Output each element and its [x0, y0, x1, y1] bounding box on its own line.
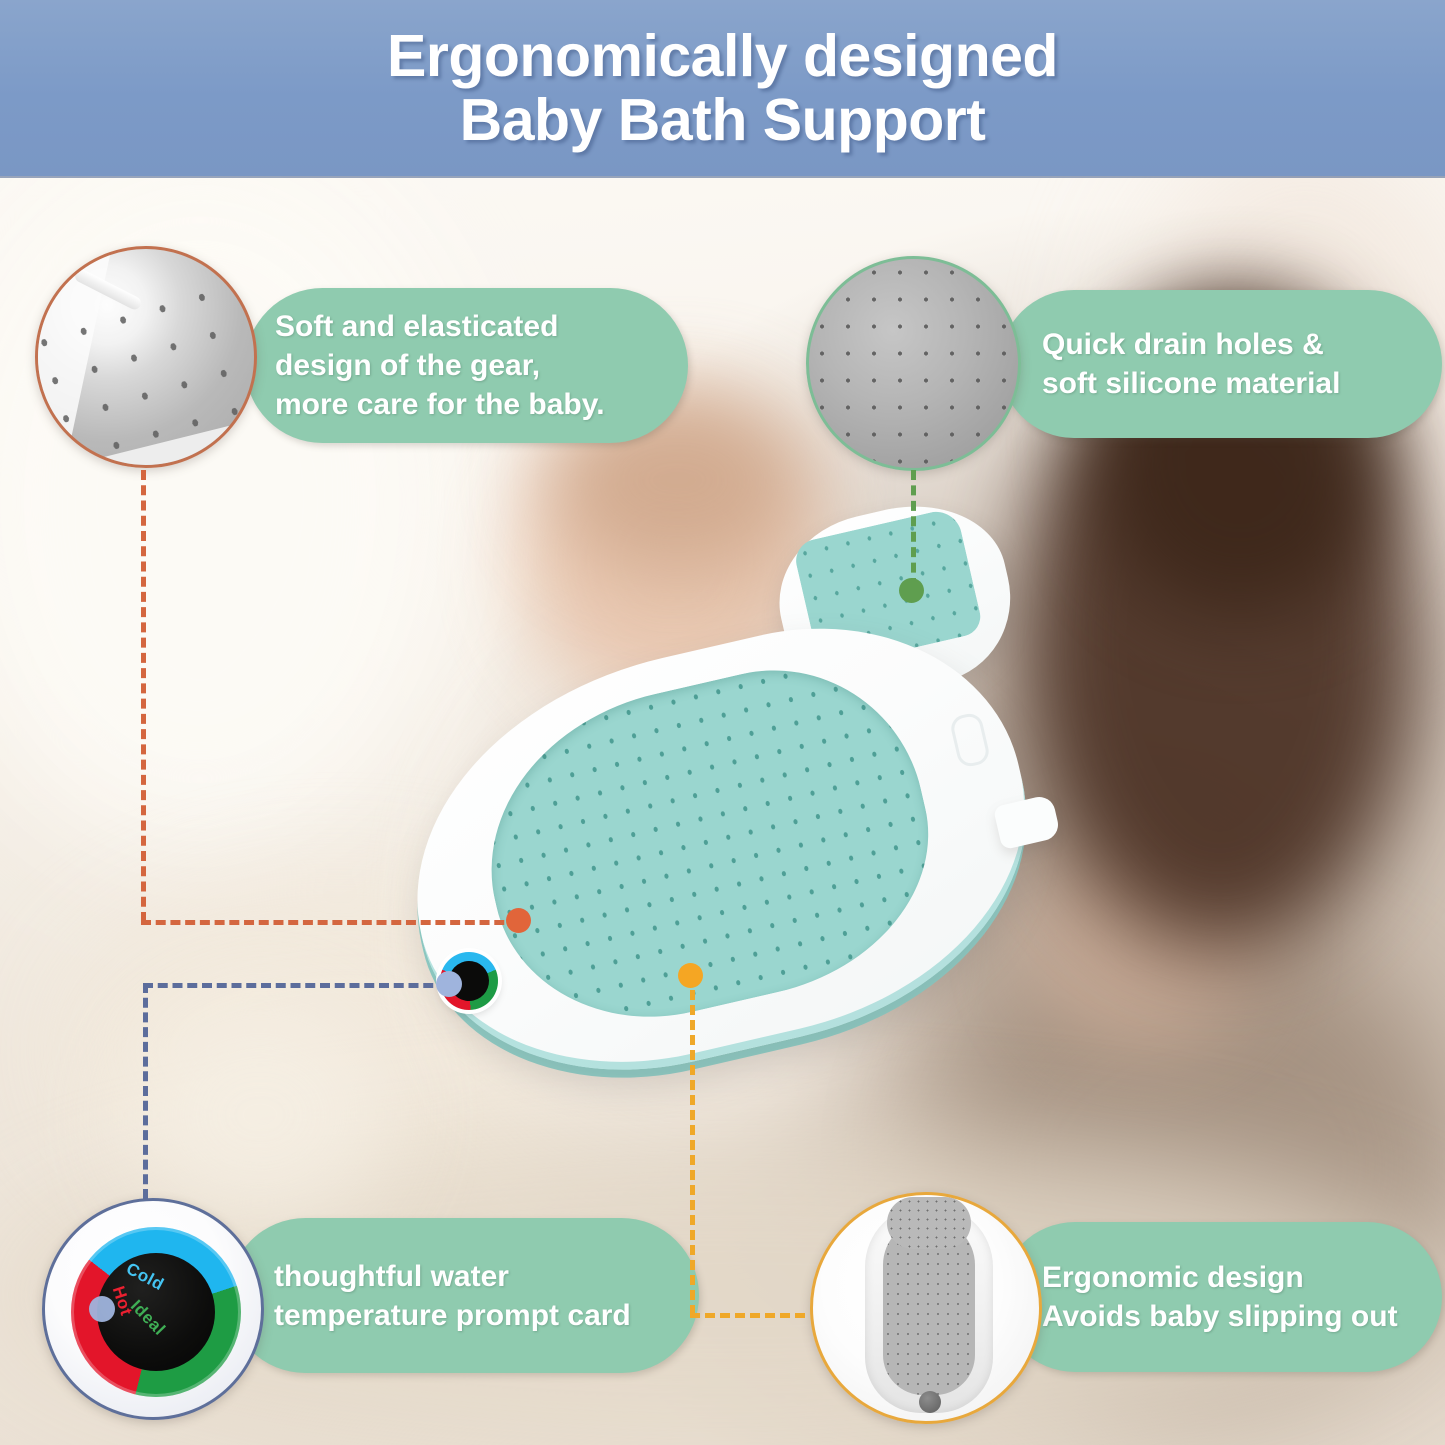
connector-line-vertical	[141, 470, 146, 922]
page-title-line-1: Ergonomically designed	[387, 23, 1058, 89]
infographic-canvas: Soft and elasticated design of the gear,…	[0, 0, 1445, 1445]
temperature-dial-icon: Hot Cold Ideal	[42, 1198, 264, 1420]
connector-line-horizontal	[141, 920, 519, 925]
drain-holes-icon	[806, 256, 1021, 471]
gear-closeup-icon	[35, 246, 257, 468]
seat-topview-knob	[919, 1391, 941, 1413]
connector-line-vertical	[143, 983, 148, 1199]
callout-pill: Quick drain holes & soft silicone materi…	[1000, 290, 1442, 438]
connector-endpoint-dot	[506, 908, 531, 933]
temperature-dial-marker	[89, 1296, 115, 1322]
background-highlight-left	[130, 1000, 390, 1230]
page-header-banner: Ergonomically designed Baby Bath Support	[0, 0, 1445, 176]
drain-holes-texture	[809, 259, 1018, 468]
callout-text: thoughtful water temperature prompt card	[274, 1257, 631, 1335]
connector-line-horizontal	[690, 1313, 805, 1318]
seat-topview-headrest	[887, 1197, 971, 1249]
page-title-line-2: Baby Bath Support	[387, 88, 1058, 152]
connector-endpoint-dot	[436, 971, 462, 997]
product-image	[380, 500, 1080, 1200]
page-title: Ergonomically designed Baby Bath Support	[387, 24, 1058, 153]
seat-topview-icon	[810, 1192, 1042, 1424]
connector-line-vertical	[911, 470, 916, 588]
connector-endpoint-dot	[678, 963, 703, 988]
callout-text: Soft and elasticated design of the gear,…	[275, 307, 605, 424]
callout-text: Quick drain holes & soft silicone materi…	[1042, 325, 1340, 403]
connector-line-vertical	[690, 975, 695, 1315]
callout-pill: Soft and elasticated design of the gear,…	[245, 288, 688, 443]
callout-pill: Ergonomic design Avoids baby slipping ou…	[1000, 1222, 1442, 1372]
connector-line-horizontal	[143, 983, 448, 988]
connector-endpoint-dot	[899, 578, 924, 603]
callout-text: Ergonomic design Avoids baby slipping ou…	[1042, 1258, 1398, 1336]
callout-pill: thoughtful water temperature prompt card	[228, 1218, 699, 1373]
